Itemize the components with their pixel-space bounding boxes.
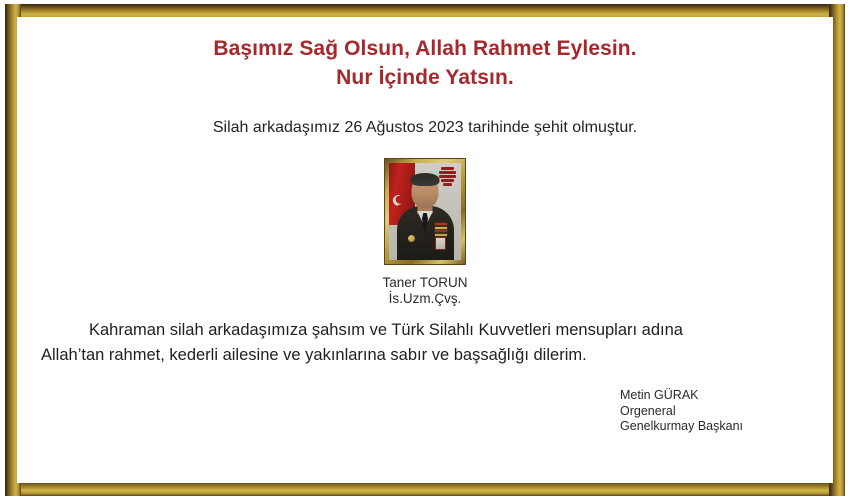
- person-rank: İs.Uzm.Çvş.: [17, 291, 833, 307]
- martyrdom-statement: Silah arkadaşımız 26 Ağustos 2023 tarihi…: [17, 117, 833, 139]
- portrait-frame: [385, 159, 465, 264]
- headline: Başımız Sağ Olsun, Allah Rahmet Eylesin.…: [17, 34, 833, 92]
- portrait-photo: [389, 163, 461, 260]
- memorial-page: Başımız Sağ Olsun, Allah Rahmet Eylesin.…: [0, 0, 850, 500]
- signatory-rank: Orgeneral: [620, 404, 743, 420]
- signatory-title: Genelkurmay Başkanı: [620, 419, 743, 435]
- hair-shape: [411, 173, 440, 186]
- military-insignia-icon: [439, 167, 456, 189]
- signatory-name: Metin GÜRAK: [620, 388, 743, 404]
- uniform-badge-icon: [408, 235, 415, 242]
- condolence-message: Kahraman silah arkadaşımıza şahsım ve Tü…: [41, 318, 809, 368]
- uniform-medal-icon: [435, 237, 446, 250]
- medal-ribbons-icon: [435, 223, 447, 237]
- headline-line-1: Başımız Sağ Olsun, Allah Rahmet Eylesin.: [17, 34, 833, 63]
- headline-line-2: Nur İçinde Yatsın.: [17, 63, 833, 92]
- signature-block: Metin GÜRAK Orgeneral Genelkurmay Başkan…: [620, 388, 743, 435]
- portrait-container: [17, 159, 833, 264]
- person-name: Taner TORUN: [17, 275, 833, 291]
- condolence-line-2: Allah’tan rahmet, kederli ailesine ve ya…: [41, 343, 809, 368]
- notice-content: Başımız Sağ Olsun, Allah Rahmet Eylesin.…: [17, 17, 833, 483]
- condolence-line-1: Kahraman silah arkadaşımıza şahsım ve Tü…: [41, 318, 809, 343]
- person-identity: Taner TORUN İs.Uzm.Çvş.: [17, 275, 833, 307]
